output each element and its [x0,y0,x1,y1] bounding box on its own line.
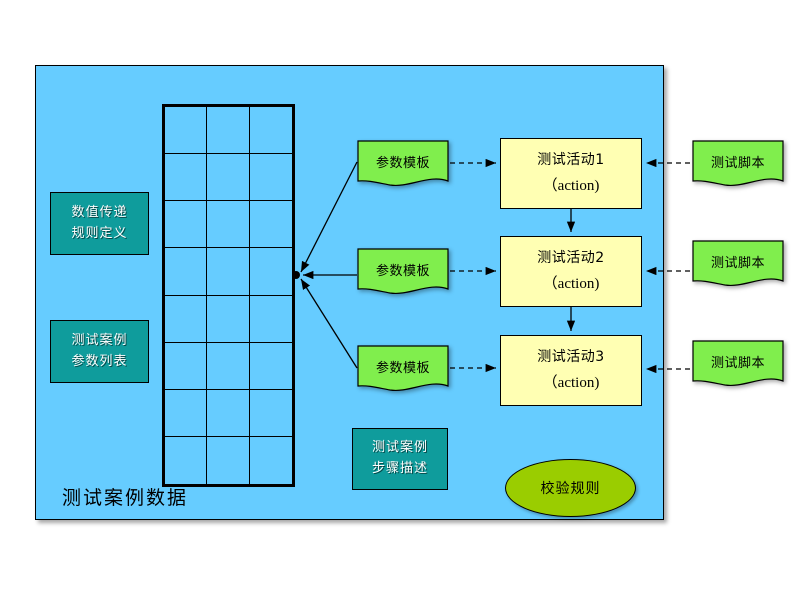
table-cell [207,437,249,484]
test-case-param-list-box: 测试案例 参数列表 [50,320,149,383]
test-case-data-table [162,104,295,487]
test-activity-1: 测试活动1 （action) [500,138,642,209]
table-cell [165,107,207,154]
test-script-1: 测试脚本 [692,140,784,190]
table-cell [165,201,207,248]
test-activity-1-sub: （action) [543,173,600,199]
table-cell [207,390,249,437]
test-activity-1-name: 测试活动1 [537,148,604,173]
param-template-1-label: 参数模板 [357,140,449,182]
test-activity-3-sub: （action) [543,370,600,396]
table-cell [207,296,249,343]
table-cell [250,154,292,201]
value-transfer-rule-line2: 规则定义 [71,224,127,245]
param-template-3: 参数模板 [357,345,449,395]
table-cell [250,248,292,295]
test-script-1-label: 测试脚本 [692,140,784,182]
test-case-step-description-line2: 步骤描述 [372,459,428,480]
table-cell [207,154,249,201]
validation-rule-label: 校验规则 [541,478,601,498]
table-cell [207,343,249,390]
table-cell [165,343,207,390]
test-script-3-label: 测试脚本 [692,340,784,382]
test-script-3: 测试脚本 [692,340,784,390]
diagram-canvas: 数值传递 规则定义 测试案例 参数列表 测试案例 步骤描述 参数模板 参数模板 … [0,0,800,600]
table-cell [250,437,292,484]
table-cell [165,437,207,484]
test-script-2: 测试脚本 [692,240,784,290]
param-template-3-label: 参数模板 [357,345,449,387]
test-case-step-description-line1: 测试案例 [372,438,428,459]
table-cell [250,390,292,437]
table-cell [165,390,207,437]
validation-rule-node: 校验规则 [505,459,636,517]
table-cell [207,201,249,248]
panel-caption: 测试案例数据 [62,483,188,510]
test-activity-2: 测试活动2 （action) [500,236,642,307]
test-activity-3: 测试活动3 （action) [500,335,642,406]
table-cell [250,343,292,390]
test-activity-2-sub: （action) [543,271,600,297]
table-cell [207,248,249,295]
param-template-2-label: 参数模板 [357,248,449,290]
value-transfer-rule-line1: 数值传递 [71,203,127,224]
table-cell [250,201,292,248]
test-activity-3-name: 测试活动3 [537,345,604,370]
table-cell [250,296,292,343]
test-case-param-list-line1: 测试案例 [71,331,127,352]
table-cell [165,248,207,295]
param-template-1: 参数模板 [357,140,449,190]
table-cell [250,107,292,154]
test-case-param-list-line2: 参数列表 [71,352,127,373]
test-case-step-description-box: 测试案例 步骤描述 [352,428,448,490]
test-script-2-label: 测试脚本 [692,240,784,282]
table-cell [207,107,249,154]
value-transfer-rule-box: 数值传递 规则定义 [50,192,149,255]
table-cell [165,154,207,201]
table-cell [165,296,207,343]
param-template-2: 参数模板 [357,248,449,298]
test-activity-2-name: 测试活动2 [537,246,604,271]
